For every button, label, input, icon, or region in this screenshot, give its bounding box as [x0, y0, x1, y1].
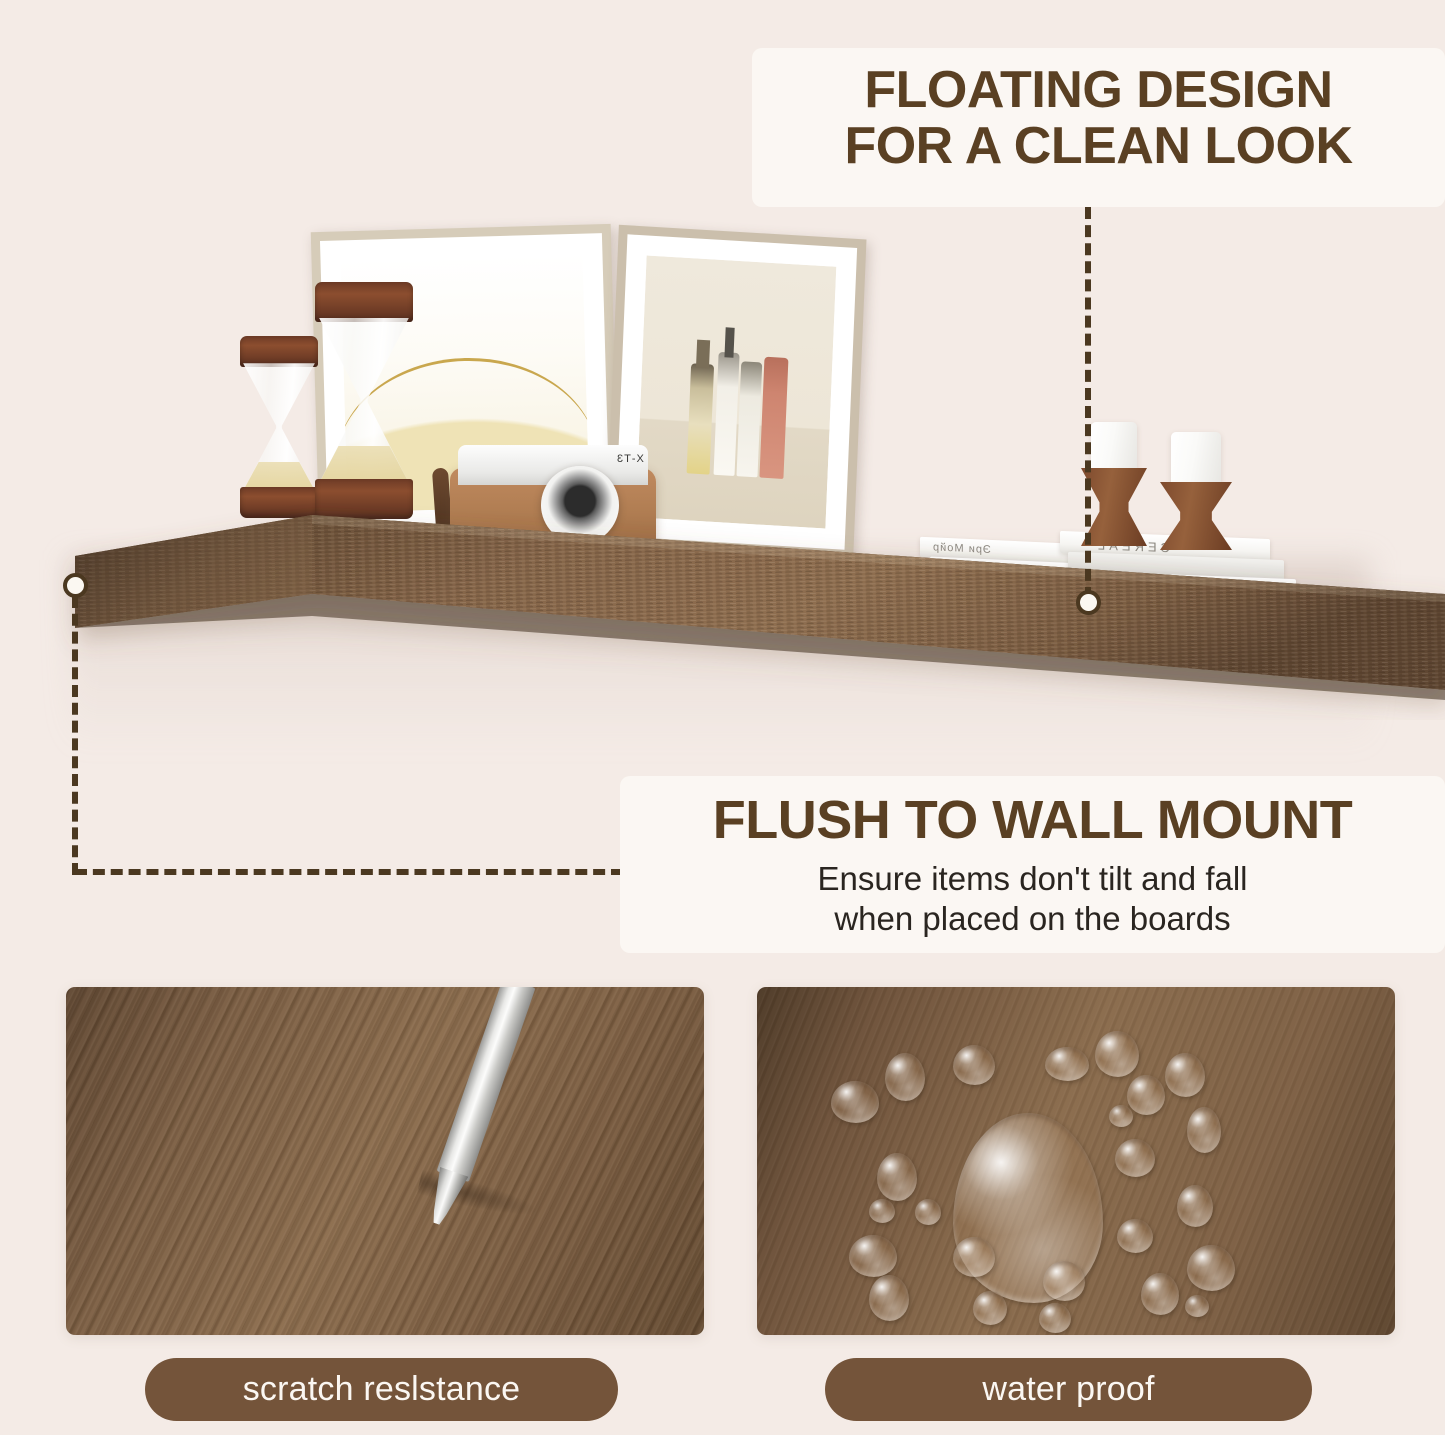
feature-panel-scratch [66, 987, 704, 1335]
wood-texture [66, 987, 704, 1335]
water-droplet [885, 1053, 925, 1101]
water-droplet [831, 1081, 879, 1123]
water-droplet [1117, 1219, 1153, 1253]
water-droplet [869, 1275, 909, 1321]
water-droplet [915, 1199, 941, 1225]
label-scratch-resistance: scratch reslstance [145, 1358, 618, 1421]
water-droplet [1187, 1107, 1221, 1153]
water-droplet [1095, 1031, 1139, 1077]
callout-dot-shelf-left [63, 573, 88, 598]
water-droplet [953, 1045, 995, 1085]
callout-dot-shelf-right [1076, 590, 1101, 615]
infographic-stage: X-T3 Эри Мойр ИСКУССТВО СТАТЕГИИ CEREAL … [0, 0, 1445, 1435]
flush-subline-line1: Ensure items don't tilt and fall [644, 859, 1421, 899]
water-droplet [973, 1291, 1007, 1325]
water-droplet [1045, 1047, 1089, 1081]
water-droplet [1141, 1273, 1179, 1315]
flush-subline: Ensure items don't tilt and fall when pl… [644, 859, 1421, 940]
water-droplet [1187, 1245, 1235, 1291]
water-droplet [869, 1199, 895, 1223]
callout-line-flush-vertical [72, 596, 78, 875]
callout-flush-mount: FLUSH TO WALL MOUNT Ensure items don't t… [620, 776, 1445, 953]
feature-panel-water [757, 987, 1395, 1335]
floating-headline-line2: FOR A CLEAN LOOK [774, 118, 1423, 174]
water-droplet [1109, 1105, 1133, 1127]
callout-floating-design: FLOATING DESIGN FOR A CLEAN LOOK [752, 48, 1445, 207]
floating-headline: FLOATING DESIGN FOR A CLEAN LOOK [774, 62, 1423, 174]
water-droplet [1039, 1303, 1071, 1333]
flush-headline: FLUSH TO WALL MOUNT [644, 792, 1421, 849]
pill-label-text: water proof [982, 1370, 1154, 1409]
floating-headline-line1: FLOATING DESIGN [774, 62, 1423, 118]
pill-label-text: scratch reslstance [243, 1370, 521, 1409]
label-water-proof: water proof [825, 1358, 1312, 1421]
water-droplet [1043, 1261, 1085, 1301]
water-droplet [877, 1153, 917, 1201]
water-droplet [1115, 1139, 1155, 1177]
water-droplet [1127, 1075, 1165, 1115]
water-droplet [953, 1237, 995, 1277]
water-droplet [1165, 1053, 1205, 1097]
flush-subline-line2: when placed on the boards [644, 899, 1421, 939]
water-droplet [1177, 1185, 1213, 1227]
water-droplet [849, 1235, 897, 1277]
water-droplet [1185, 1295, 1209, 1317]
callout-line-flush-horizontal [75, 869, 623, 875]
callout-line-floating [1085, 207, 1091, 599]
